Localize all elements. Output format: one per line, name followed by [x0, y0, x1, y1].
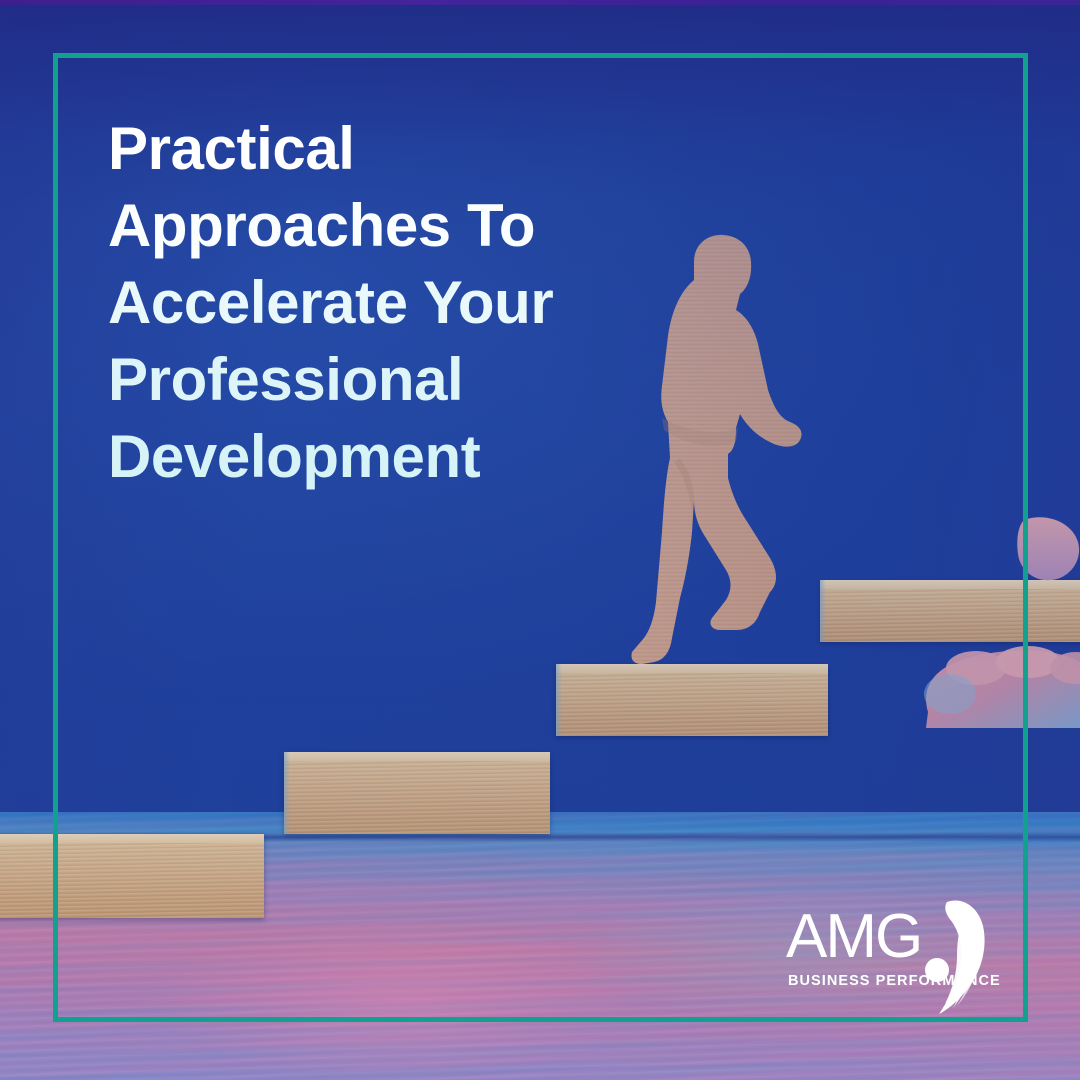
headline-line-4: Professional	[108, 341, 728, 418]
logo-wordmark: AMG	[786, 906, 921, 968]
page-title: Practical Approaches To Accelerate Your …	[108, 110, 728, 495]
wooden-block-step-1	[0, 834, 264, 918]
headline-line-5: Development	[108, 418, 728, 495]
flame-swoosh-icon	[917, 896, 995, 1014]
top-accent-strip	[0, 0, 1080, 5]
social-graphic-canvas: Practical Approaches To Accelerate Your …	[0, 0, 1080, 1080]
headline-line-1: Practical	[108, 110, 728, 187]
headline-line-3: Accelerate Your	[108, 264, 728, 341]
hand-icon	[920, 516, 1080, 728]
amg-logo: AMG BUSINESS PERFORMANCE	[786, 906, 986, 1010]
logo-dot	[925, 958, 949, 982]
wooden-block-step-3	[556, 664, 828, 736]
wooden-block-step-2	[284, 752, 550, 834]
headline-line-2: Approaches To	[108, 187, 728, 264]
